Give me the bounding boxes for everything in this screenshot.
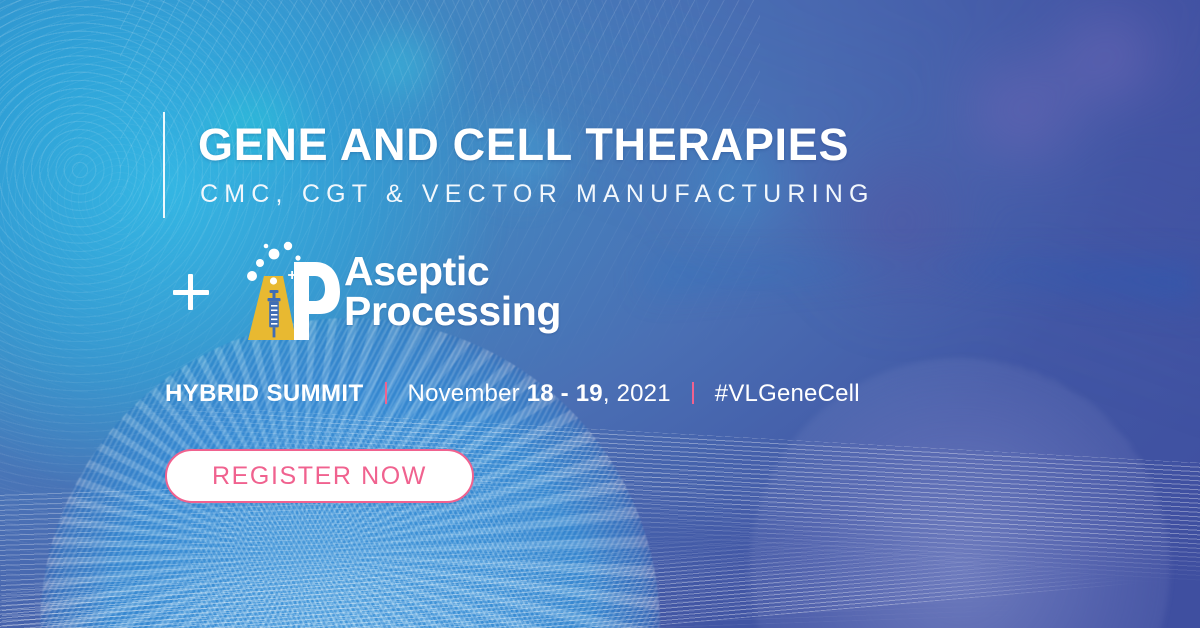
aseptic-processing-logo-icon (230, 240, 342, 344)
event-promo-banner: GENE AND CELL THERAPIES CMC, CGT & VECTO… (0, 0, 1200, 628)
info-separator-1 (385, 382, 387, 404)
logo-word-aseptic: Aseptic (344, 252, 561, 292)
page-title: GENE AND CELL THERAPIES (198, 122, 849, 167)
event-format-label: HYBRID SUMMIT (165, 380, 364, 408)
page-subtitle: CMC, CGT & VECTOR MANUFACTURING (200, 182, 875, 207)
event-date-suffix: , 2021 (603, 380, 671, 407)
logo-word-processing: Processing (344, 292, 561, 332)
event-info-line: HYBRID SUMMIT November 18 - 19, 2021 #VL… (165, 379, 860, 408)
event-date-days: 18 - 19 (527, 380, 603, 407)
banner-content: GENE AND CELL THERAPIES CMC, CGT & VECTO… (0, 0, 1200, 628)
register-now-button[interactable]: REGISTER NOW (165, 449, 474, 503)
event-date-prefix: November (408, 380, 527, 407)
event-date: November 18 - 19, 2021 (408, 380, 671, 408)
headline-divider-rule (163, 112, 165, 218)
info-separator-2 (692, 382, 694, 404)
event-hashtag: #VLGeneCell (715, 380, 860, 408)
logo-wordmark: Aseptic Processing (344, 252, 561, 332)
partner-logo-lockup: Aseptic Processing (170, 240, 561, 344)
plus-icon (170, 271, 212, 313)
